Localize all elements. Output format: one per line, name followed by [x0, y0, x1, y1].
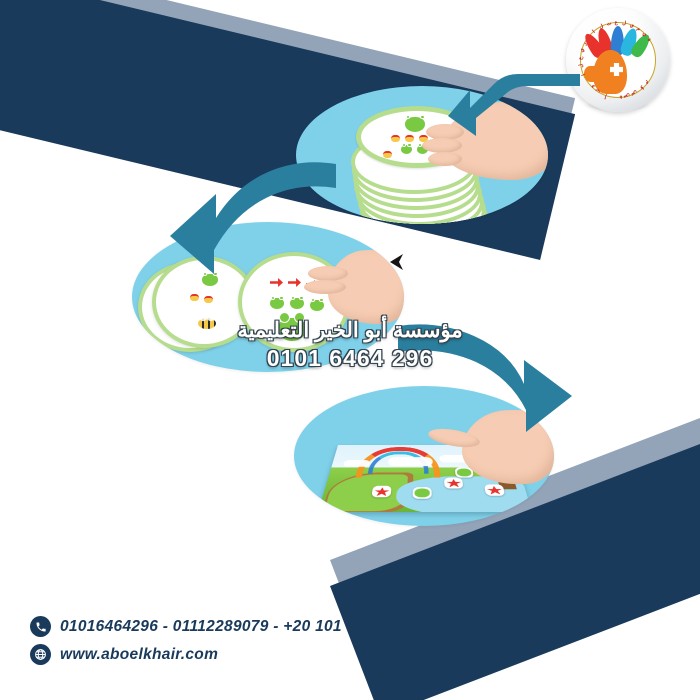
arrow-to-photo-board-icon	[398, 318, 584, 434]
poster-canvas: مؤسسة أبو الخير التعليمية	[0, 0, 700, 700]
red-arrow-icon	[270, 278, 283, 287]
contact-row-website[interactable]: www.aboelkhair.com	[30, 644, 414, 665]
flower-token	[484, 485, 505, 496]
website-url: www.aboelkhair.com	[60, 646, 218, 664]
flower-token	[444, 478, 463, 489]
pointer-chevron-icon	[386, 252, 406, 272]
logo-sphere: مؤسسة أبو الخير التعليمية	[566, 8, 670, 112]
red-arrow-icon	[288, 278, 301, 287]
frog-number: 6	[278, 325, 306, 336]
frog-token	[413, 487, 432, 499]
contact-block: 01016464296 - 01112289079 - +20 101 302 …	[30, 616, 414, 672]
flower-token	[372, 486, 392, 498]
contact-row-phone[interactable]: 01016464296 - 01112289079 - +20 101 302 …	[30, 616, 414, 637]
arrow-to-photo-discs-icon	[448, 72, 580, 142]
logo-rim-text: مؤسسة أبو الخير التعليمية	[566, 8, 670, 112]
phone-icon	[30, 616, 51, 637]
phone-numbers: 01016464296 - 01112289079 - +20 101 302 …	[60, 618, 414, 636]
numbered-frog: 6	[278, 318, 306, 341]
globe-icon	[30, 644, 51, 665]
brand-logo[interactable]: مؤسسة أبو الخير التعليمية	[566, 8, 670, 112]
arrow-to-photo-cards-icon	[150, 158, 336, 276]
